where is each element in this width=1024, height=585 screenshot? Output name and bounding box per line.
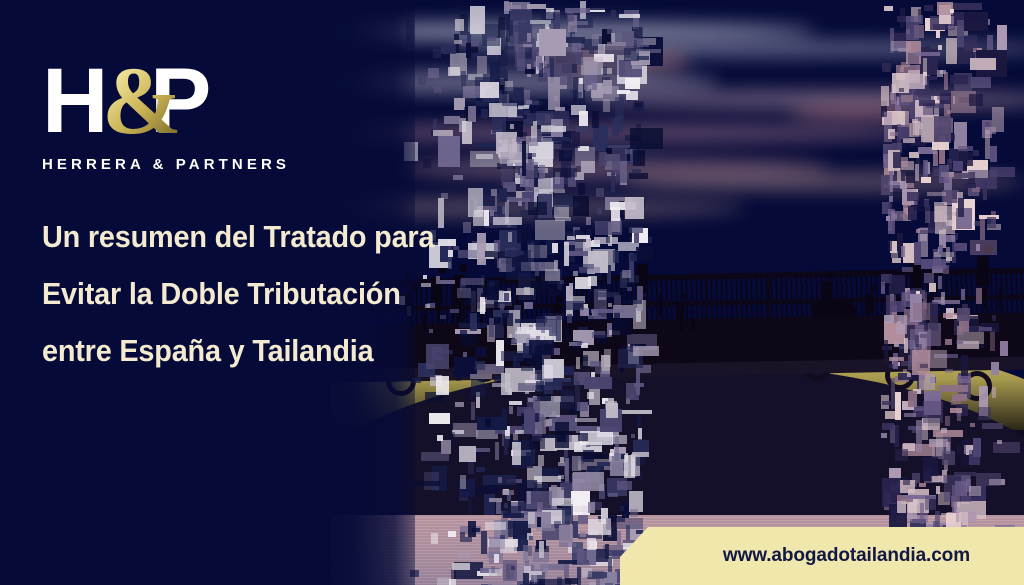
headline-line-2: Evitar la Doble Tributación — [42, 265, 433, 322]
logo-firm-name: HERRERA & PARTNERS — [42, 156, 282, 173]
logo-ampersand-icon: & — [102, 54, 182, 148]
logo-mark: H P & — [42, 58, 282, 144]
background-photo — [330, 0, 1024, 585]
headline: Un resumen del Tratado para Evitar la Do… — [42, 208, 433, 379]
website-url-text[interactable]: www.abogadotailandia.com — [723, 545, 970, 567]
headline-line-1: Un resumen del Tratado para — [42, 208, 433, 265]
promotional-banner: H P & HERRERA & PARTNERS Un resumen del … — [0, 0, 1024, 585]
logo-letter-h: H — [42, 58, 106, 144]
website-url-bar[interactable]: www.abogadotailandia.com — [620, 527, 1024, 585]
headline-line-3: entre España y Tailandia — [42, 322, 433, 379]
logo[interactable]: H P & HERRERA & PARTNERS — [42, 58, 282, 173]
